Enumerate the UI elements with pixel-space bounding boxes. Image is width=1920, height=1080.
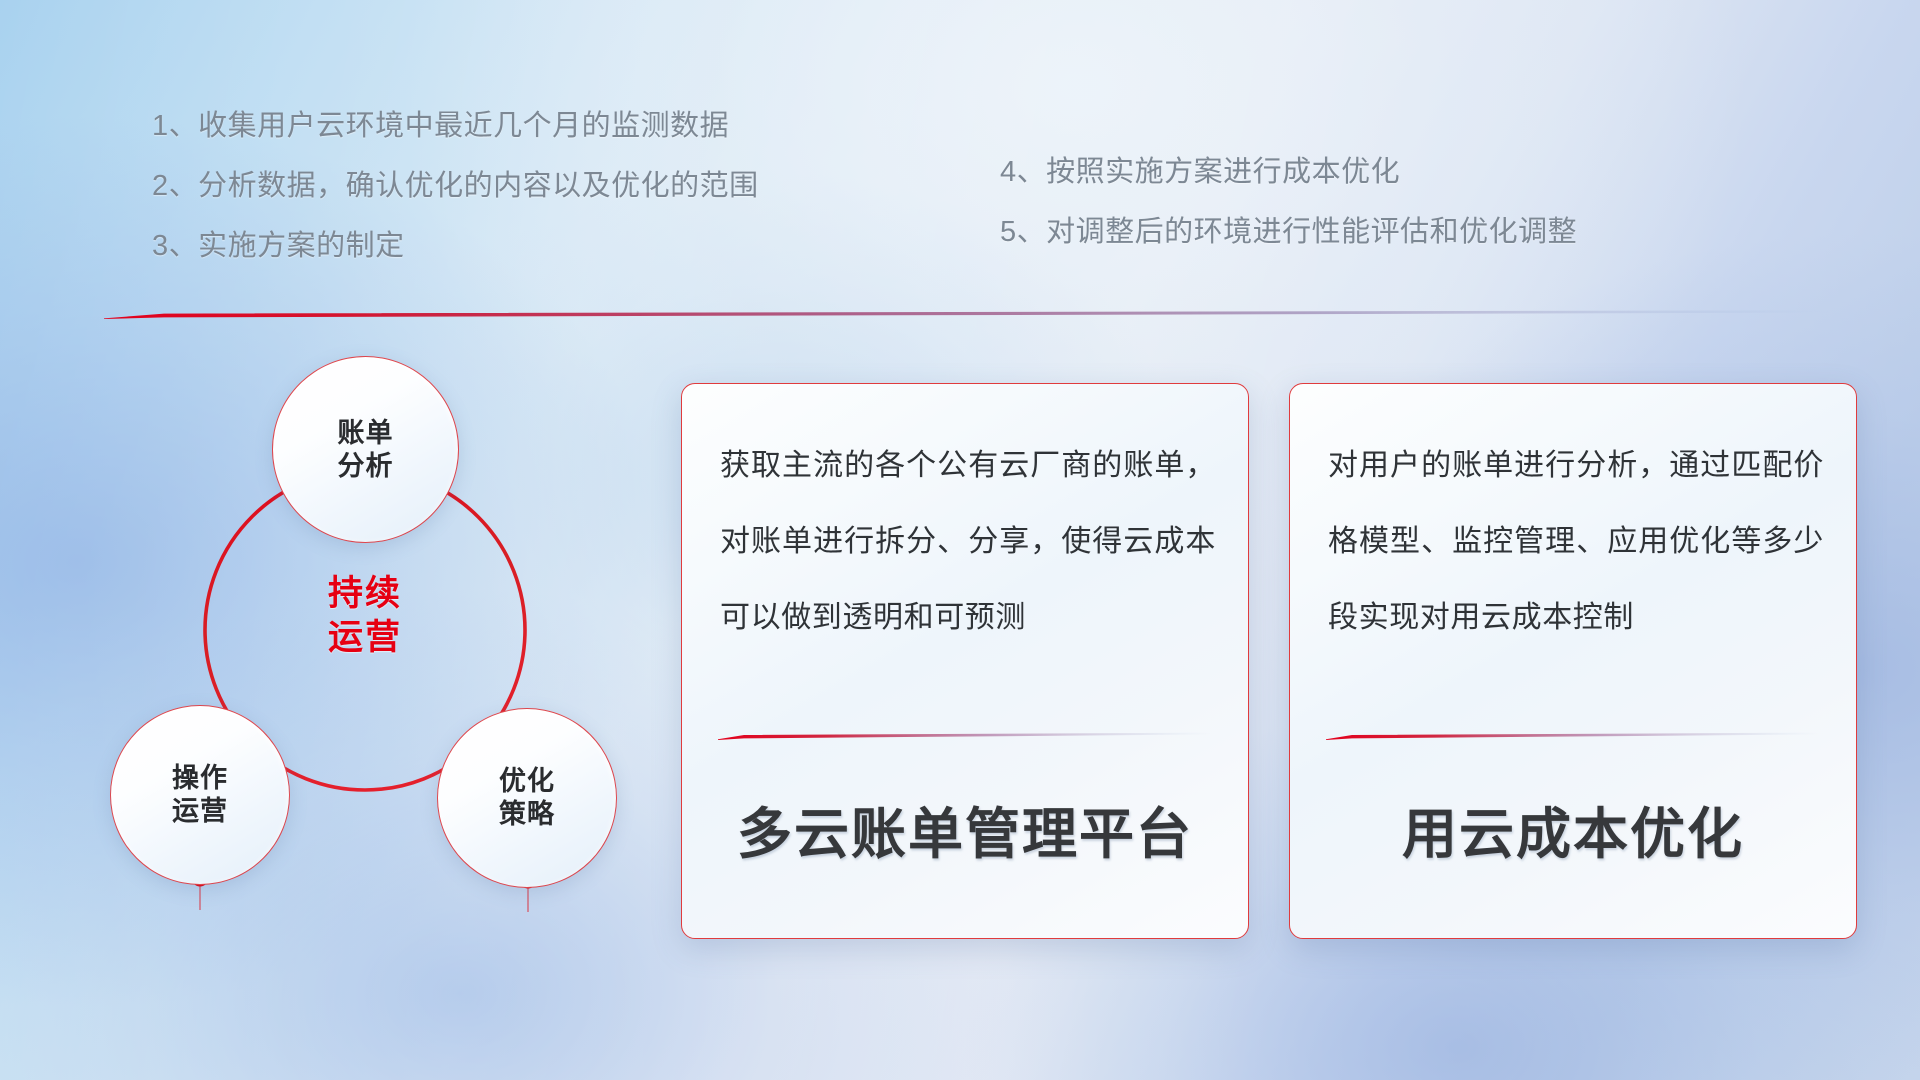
step-item-5: 5、对调整后的环境进行性能评估和优化调整 [1000, 202, 1577, 262]
steps-right-column: 4、按照实施方案进行成本优化 5、对调整后的环境进行性能评估和优化调整 [1000, 142, 1577, 262]
diagram-node-billing-analysis-label: 账单 分析 [338, 417, 394, 483]
card-title: 用云成本优化 [1290, 789, 1856, 869]
step-item-3: 3、实施方案的制定 [152, 216, 759, 276]
step-item-2: 2、分析数据，确认优化的内容以及优化的范围 [152, 156, 759, 216]
card-body-text: 获取主流的各个公有云厂商的账单，对账单进行拆分、分享，使得云成本可以做到透明和可… [720, 428, 1216, 656]
card-divider [1326, 732, 1820, 740]
diagram-node-billing-analysis[interactable]: 账单 分析 [272, 356, 459, 543]
node-label-line1: 账单 [338, 417, 394, 450]
node-label-line2: 分析 [338, 450, 394, 483]
step-item-1: 1、收集用户云环境中最近几个月的监测数据 [152, 96, 759, 156]
node-label-line1: 操作 [172, 762, 228, 795]
center-label-line2: 运营 [285, 616, 445, 660]
card-cloud-cost-optimization[interactable]: 对用户的账单进行分析，通过匹配价格模型、监控管理、应用优化等多少段实现对用云成本… [1289, 383, 1857, 939]
diagram-node-operations-label: 操作 运营 [172, 762, 228, 828]
center-label-line1: 持续 [285, 572, 445, 616]
step-item-4: 4、按照实施方案进行成本优化 [1000, 142, 1577, 202]
node-label-line2: 运营 [172, 795, 228, 828]
diagram-node-optimization-strategy-label: 优化 策略 [499, 765, 555, 831]
steps-left-column: 1、收集用户云环境中最近几个月的监测数据 2、分析数据，确认优化的内容以及优化的… [152, 96, 759, 276]
diagram-node-operations[interactable]: 操作 运营 [110, 705, 290, 885]
card-divider [718, 732, 1212, 740]
slide-canvas: 1、收集用户云环境中最近几个月的监测数据 2、分析数据，确认优化的内容以及优化的… [0, 0, 1920, 1080]
card-title: 多云账单管理平台 [682, 789, 1248, 869]
node-label-line1: 优化 [499, 765, 555, 798]
card-body-text: 对用户的账单进行分析，通过匹配价格模型、监控管理、应用优化等多少段实现对用云成本… [1328, 428, 1824, 656]
header-divider [104, 310, 1830, 319]
diagram-node-optimization-strategy[interactable]: 优化 策略 [437, 708, 617, 888]
card-multi-cloud-billing-platform[interactable]: 获取主流的各个公有云厂商的账单，对账单进行拆分、分享，使得云成本可以做到透明和可… [681, 383, 1249, 939]
node-label-line2: 策略 [499, 798, 555, 831]
diagram-center-label: 持续 运营 [285, 572, 445, 660]
continuous-operations-diagram: 账单 分析 操作 运营 优化 策略 持续 运营 [100, 350, 660, 950]
